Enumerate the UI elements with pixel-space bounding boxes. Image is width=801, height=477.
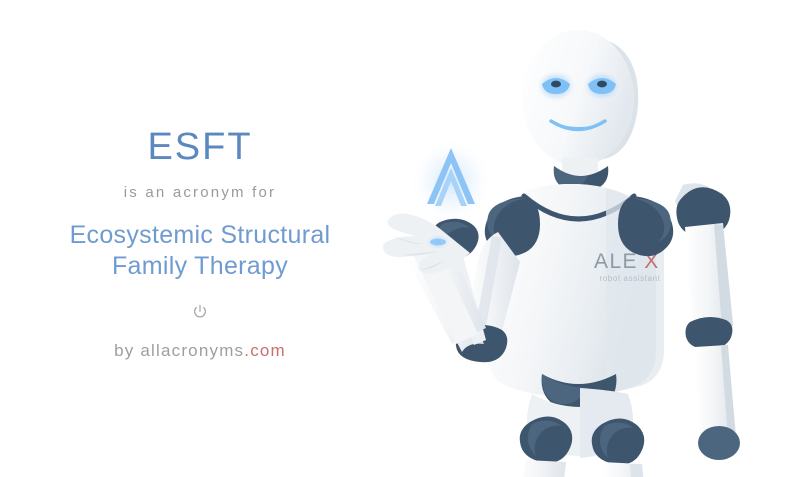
acronym-connector-text: is an acronym for [0,185,400,200]
byline: by allacronyms.com [0,342,400,359]
byline-prefix: by [114,341,140,360]
acronym-title: ESFT [0,128,400,166]
robot-head [522,30,638,166]
definition-line-2: Family Therapy [0,251,400,282]
chest-brand-prefix: ALE [594,250,638,273]
chest-tagline: robot assistant [599,274,660,283]
robot-left-arm [383,214,520,363]
acronym-definition: Ecosystemic Structural Family Therapy [0,220,400,282]
robot-svg: ALE X robot assistant [380,0,801,477]
power-icon-glyph [191,303,209,321]
robot-illustration: ALE X robot assistant [380,0,801,477]
palm-glow-icon [422,232,454,252]
byline-site-name: allacronyms [140,341,244,360]
acronym-definition-card: ESFT is an acronym for Ecosystemic Struc… [0,0,801,477]
byline-domain-suffix: .com [244,341,286,360]
text-column: ESFT is an acronym for Ecosystemic Struc… [0,0,400,477]
power-icon [0,300,400,324]
robot-right-arm [675,183,740,460]
definition-line-1: Ecosystemic Structural [0,220,400,251]
